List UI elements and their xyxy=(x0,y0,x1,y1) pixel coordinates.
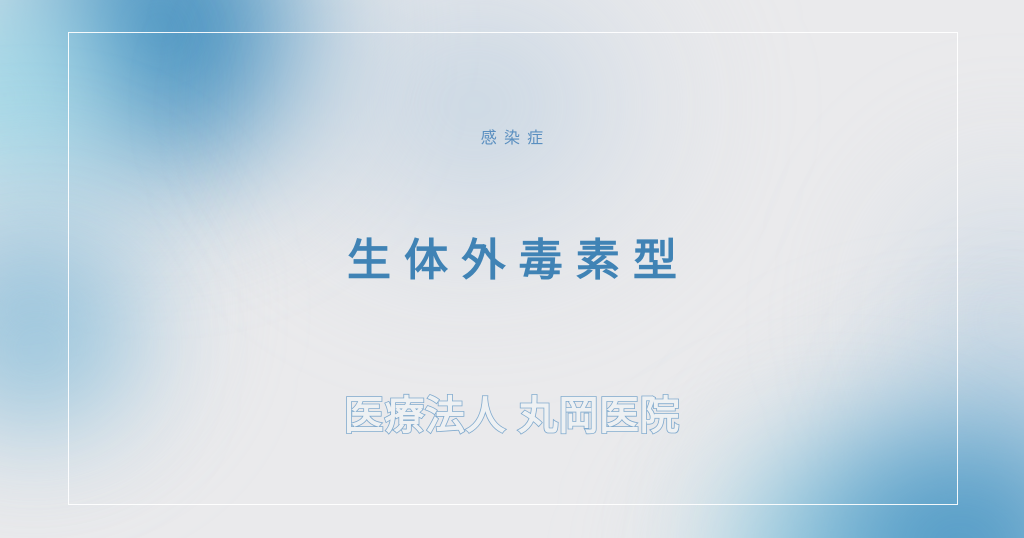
slide-content: 感染症 生体外毒素型 医療法人 丸岡医院 xyxy=(0,0,1024,538)
page-title: 生体外毒素型 xyxy=(334,239,690,283)
category-eyebrow: 感染症 xyxy=(474,131,551,147)
organization-name: 医療法人 丸岡医院 xyxy=(344,396,681,436)
title-slide: 感染症 生体外毒素型 医療法人 丸岡医院 xyxy=(0,0,1024,538)
